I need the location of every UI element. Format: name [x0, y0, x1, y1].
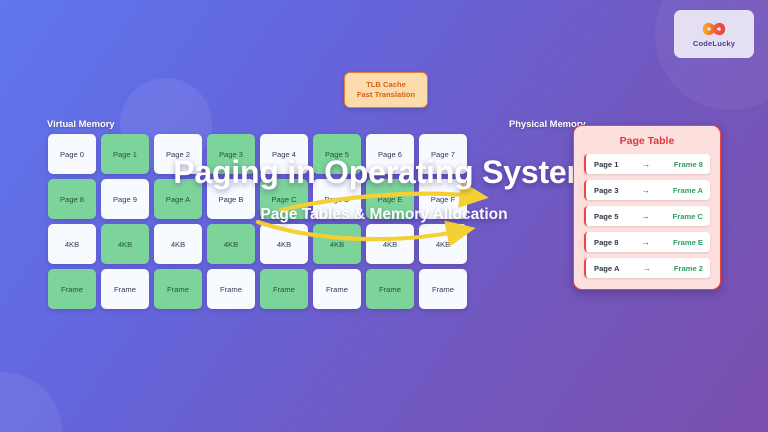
memory-cell: 4KB — [154, 224, 202, 264]
memory-cell: 4KB — [207, 224, 255, 264]
decorative-circle-bottom-left — [0, 372, 62, 432]
memory-cell: Frame — [154, 269, 202, 309]
arrow-right-icon: → — [618, 211, 672, 221]
page-table-page: Page A — [594, 264, 619, 273]
memory-cell: 4KB — [419, 224, 467, 264]
page-table-rows: Page 1→Frame 8Page 3→Frame APage 5→Frame… — [584, 154, 710, 278]
page-table-page: Page 1 — [594, 160, 618, 169]
memory-cell: Page B — [207, 179, 255, 219]
memory-cell: 4KB — [101, 224, 149, 264]
memory-cell: Page 6 — [366, 134, 414, 174]
page-table-frame: Frame E — [673, 238, 703, 247]
memory-cell: Frame — [260, 269, 308, 309]
memory-cell: Page 9 — [101, 179, 149, 219]
memory-cell: Page A — [154, 179, 202, 219]
memory-cell: Page E — [366, 179, 414, 219]
memory-cell: Page 2 — [154, 134, 202, 174]
arrow-right-icon: → — [618, 185, 672, 195]
tlb-title: TLB Cache — [366, 80, 406, 90]
memory-cell: Page 4 — [260, 134, 308, 174]
page-table-frame: Frame 8 — [674, 160, 703, 169]
memory-cell: Page C — [260, 179, 308, 219]
page-table-frame: Frame A — [673, 186, 703, 195]
page-table-page: Page 8 — [594, 238, 618, 247]
tlb-subtitle: Fast Translation — [357, 90, 415, 100]
slide-canvas: CodeLucky TLB Cache Fast Translation Vir… — [0, 0, 768, 432]
page-table-row: Page 3→Frame A — [584, 180, 710, 200]
memory-cell: Frame — [207, 269, 255, 309]
memory-cell: 4KB — [313, 224, 361, 264]
memory-cell: 4KB — [366, 224, 414, 264]
memory-cell: Page F — [419, 179, 467, 219]
memory-cell: Page 3 — [207, 134, 255, 174]
memory-cell: 4KB — [260, 224, 308, 264]
page-table-row: Page A→Frame 2 — [584, 258, 710, 278]
memory-grid: Page 0Page 1Page 2Page 3Page 4Page 5Page… — [48, 134, 467, 309]
memory-cell: Page 5 — [313, 134, 361, 174]
page-table-title: Page Table — [584, 135, 710, 147]
memory-cell: Page 0 — [48, 134, 96, 174]
tlb-cache-box: TLB Cache Fast Translation — [344, 72, 428, 108]
virtual-memory-label: Virtual Memory — [47, 118, 115, 129]
page-table-page: Page 3 — [594, 186, 618, 195]
memory-cell: Frame — [48, 269, 96, 309]
logo-text: CodeLucky — [693, 39, 735, 48]
memory-cell: Page 8 — [48, 179, 96, 219]
arrow-right-icon: → — [618, 237, 673, 247]
memory-cell: Frame — [313, 269, 361, 309]
memory-cell: Frame — [101, 269, 149, 309]
page-table-page: Page 5 — [594, 212, 618, 221]
page-table-row: Page 5→Frame C — [584, 206, 710, 226]
memory-cell: Frame — [419, 269, 467, 309]
memory-cell: Frame — [366, 269, 414, 309]
page-table-row: Page 1→Frame 8 — [584, 154, 710, 174]
memory-cell: 4KB — [48, 224, 96, 264]
arrow-right-icon: → — [619, 263, 673, 273]
arrow-right-icon: → — [618, 159, 673, 169]
page-table-row: Page 8→Frame E — [584, 232, 710, 252]
page-table-frame: Frame 2 — [674, 264, 703, 273]
page-table-frame: Frame C — [673, 212, 703, 221]
memory-cell: Page 7 — [419, 134, 467, 174]
page-table-panel: Page Table Page 1→Frame 8Page 3→Frame AP… — [573, 125, 721, 290]
memory-cell: Page 1 — [101, 134, 149, 174]
codelucky-logo: CodeLucky — [674, 10, 754, 58]
infinity-icon — [697, 20, 731, 38]
memory-cell: Page D — [313, 179, 361, 219]
